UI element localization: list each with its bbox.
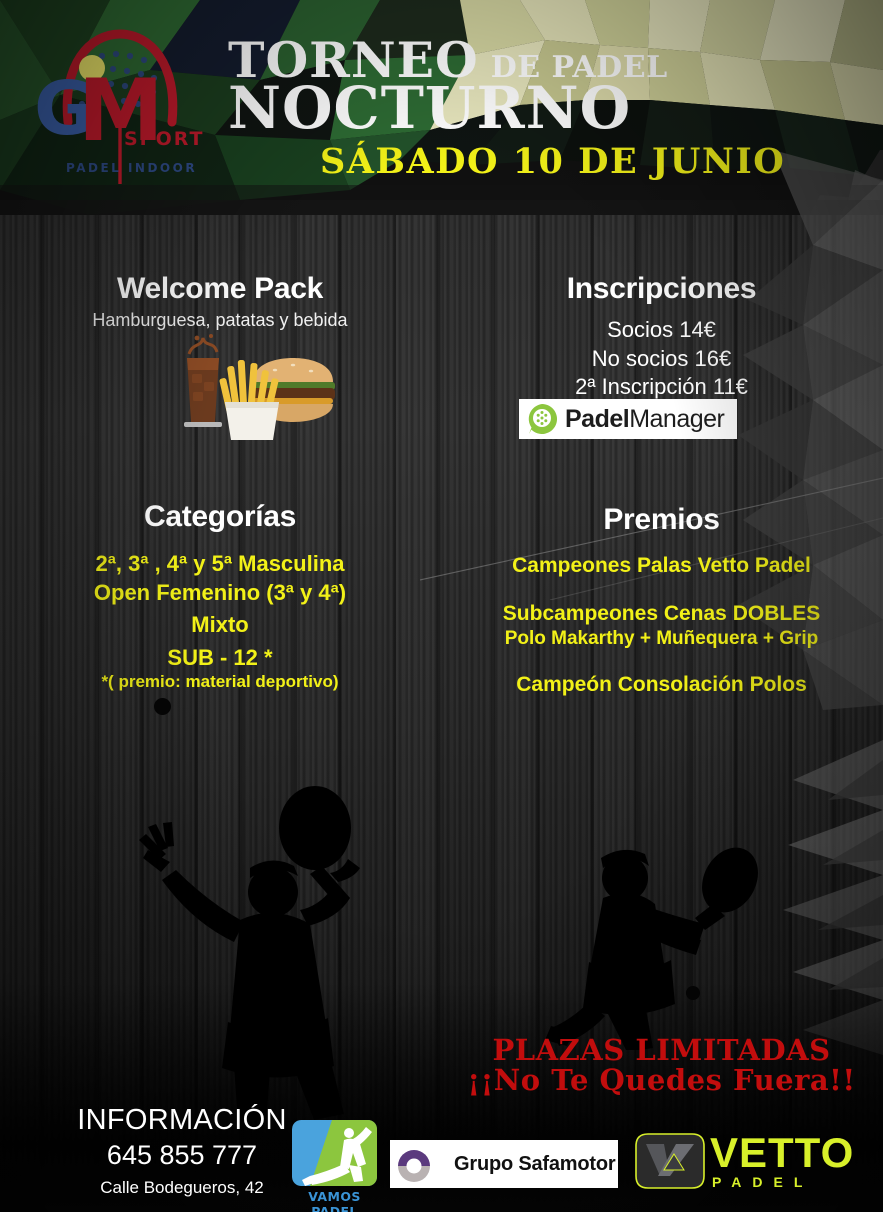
header-nocturno-text: NOCTURNO — [228, 79, 788, 137]
contact-address: Calle Bodegueros, 42 — [62, 1178, 302, 1198]
vetto-wordmark: VETTO — [710, 1132, 854, 1174]
categoria-line-masculina: 2ª, 3ª , 4ª y 5ª Masculina — [0, 550, 440, 579]
padelmanager-light-text: Manager — [629, 405, 724, 433]
vetto-monogram-icon — [630, 1130, 710, 1192]
contact-info-block: INFORMACIÓN 645 855 777 Calle Bodegueros… — [62, 1104, 302, 1198]
padelmanager-bold-text: Padel — [565, 405, 629, 433]
informacion-title: INFORMACIÓN — [62, 1104, 302, 1137]
logo-sport-text: SPORT — [124, 128, 205, 150]
welcome-pack-subtitle: Hamburguesa, patatas y bebida — [0, 310, 440, 331]
contact-phone[interactable]: 645 855 777 — [62, 1140, 302, 1171]
categorias-section: Categorías 2ª, 3ª , 4ª y 5ª Masculina Op… — [0, 500, 440, 692]
premio-subcampeones: Subcampeones Cenas DOBLES — [440, 601, 883, 627]
safamotor-wordmark: Grupo Safamotor — [454, 1153, 615, 1176]
premios-section: Premios Campeones Palas Vetto Padel Subc… — [440, 503, 883, 698]
gm-sport-logo: G M SPORT PADEL INDOOR — [28, 12, 208, 187]
warning-line-1: PLAZAS LIMITADAS — [440, 1036, 883, 1066]
categorias-title: Categorías — [0, 500, 440, 534]
premio-consolacion: Campeón Consolación Polos — [440, 672, 883, 698]
premios-title: Premios — [440, 503, 883, 537]
vamos-padel-badge — [292, 1120, 377, 1186]
poster-header: TORNEODE PADEL NOCTURNO SÁBADO 10 DE JUN… — [228, 38, 788, 182]
categoria-line-mixto: Mixto — [0, 611, 440, 640]
categoria-line-femenino: Open Femenino (3ª y 4ª) — [0, 579, 440, 608]
inscripciones-title: Inscripciones — [440, 272, 883, 306]
padel-ball-dot — [154, 698, 171, 715]
vetto-padel-logo[interactable]: VETTO PADEL — [630, 1130, 870, 1196]
food-combo-image — [175, 330, 335, 440]
grupo-safamotor-logo[interactable]: Grupo Safamotor — [390, 1140, 618, 1188]
header-date-text: SÁBADO 10 DE JUNIO — [320, 141, 788, 182]
price-line-socios: Socios 14€ — [440, 316, 883, 345]
padelmanager-logo[interactable]: PadelManager — [519, 399, 737, 439]
categoria-line-sub12: SUB - 12 * — [0, 644, 440, 673]
vetto-subtitle: PADEL — [712, 1174, 813, 1190]
tournament-poster: G M SPORT PADEL INDOOR TORNEODE PADEL NO… — [0, 0, 883, 1212]
welcome-pack-section: Welcome Pack Hamburguesa, patatas y bebi… — [0, 272, 440, 331]
price-line-no-socios: No socios 16€ — [440, 345, 883, 374]
vamos-padel-label: VAMOS PADEL — [292, 1189, 377, 1212]
welcome-pack-title: Welcome Pack — [0, 272, 440, 306]
safamotor-icon — [390, 1142, 448, 1186]
premio-subcampeones-detalle: Polo Makarthy + Muñequera + Grip — [440, 628, 883, 650]
price-line-segunda: 2ª Inscripción 11€ — [440, 373, 883, 402]
vamos-padel-logo[interactable]: VAMOS PADEL — [292, 1120, 377, 1208]
inscripciones-section: Inscripciones Socios 14€ No socios 16€ 2… — [440, 272, 883, 402]
padelmanager-wordmark: PadelManager — [565, 405, 724, 434]
premio-campeones: Campeones Palas Vetto Padel — [440, 553, 883, 579]
padelmanager-icon — [525, 402, 559, 436]
limited-spots-warning: PLAZAS LIMITADAS ¡¡No Te Quedes Fuera!! — [440, 1036, 883, 1095]
categorias-note: *( premio: material deportivo) — [0, 672, 440, 692]
logo-subtitle-text: PADEL INDOOR — [66, 161, 197, 175]
warning-line-2: ¡¡No Te Quedes Fuera!! — [440, 1066, 883, 1096]
